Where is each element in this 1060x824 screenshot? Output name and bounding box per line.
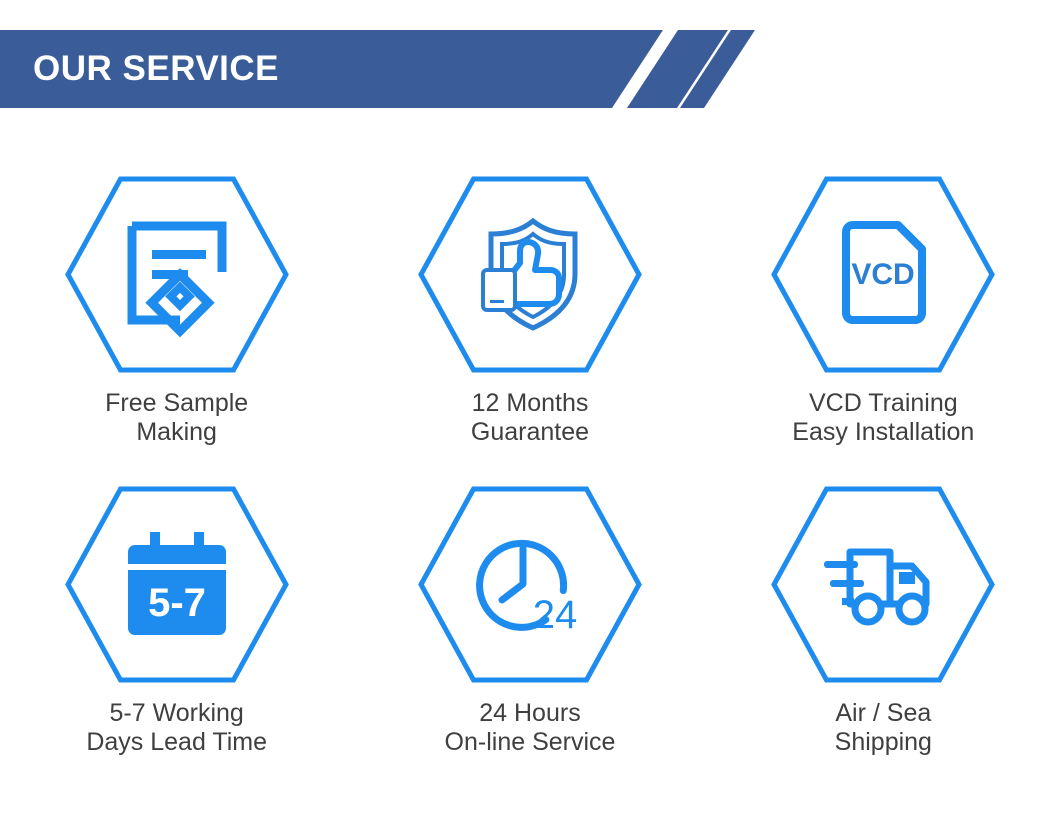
hexagon-frame-vcd: VCD bbox=[770, 175, 996, 374]
caption-line-2: Days Lead Time bbox=[86, 728, 267, 757]
hexagon-frame-online-service: 24 bbox=[417, 485, 643, 684]
hexagon-frame-lead-time: 5-7 bbox=[64, 485, 290, 684]
vcd-label: VCD bbox=[852, 258, 915, 291]
caption-line-1: Air / Sea bbox=[835, 699, 931, 727]
service-card-free-sample[interactable]: Free Sample Making bbox=[0, 175, 353, 485]
document-tag-icon bbox=[117, 215, 237, 335]
service-card-online-service[interactable]: 24 24 Hours On-line Service bbox=[353, 485, 706, 795]
service-grid: Free Sample Making bbox=[0, 175, 1060, 795]
service-card-lead-time[interactable]: 5-7 5-7 Working Days Lead Time bbox=[0, 485, 353, 795]
page-title: OUR SERVICE bbox=[33, 30, 279, 108]
delivery-truck-icon bbox=[823, 525, 943, 645]
service-caption-online-service: 24 Hours On-line Service bbox=[445, 699, 616, 757]
caption-line-1: 5-7 Working bbox=[110, 699, 244, 727]
caption-line-2: Making bbox=[105, 418, 248, 447]
caption-line-2: On-line Service bbox=[445, 728, 616, 757]
hexagon-frame-shipping bbox=[770, 485, 996, 684]
service-caption-lead-time: 5-7 Working Days Lead Time bbox=[86, 699, 267, 757]
clock-hours-label: 24 bbox=[533, 593, 578, 637]
service-caption-free-sample: Free Sample Making bbox=[105, 389, 248, 447]
header-banner: OUR SERVICE bbox=[0, 30, 760, 108]
hexagon-frame-guarantee bbox=[417, 175, 643, 374]
service-caption-shipping: Air / Sea Shipping bbox=[835, 699, 932, 757]
hexagon-frame-free-sample bbox=[64, 175, 290, 374]
caption-line-1: Free Sample bbox=[105, 389, 248, 417]
shield-thumbs-up-icon bbox=[470, 215, 590, 335]
calendar-icon: 5-7 bbox=[117, 525, 237, 645]
service-caption-vcd-training: VCD Training Easy Installation bbox=[792, 389, 974, 447]
service-card-shipping[interactable]: Air / Sea Shipping bbox=[707, 485, 1060, 795]
caption-line-1: 24 Hours bbox=[479, 699, 580, 727]
caption-line-2: Shipping bbox=[835, 728, 932, 757]
vcd-card-icon: VCD bbox=[823, 215, 943, 335]
service-card-vcd-training[interactable]: VCD VCD Training Easy Installation bbox=[707, 175, 1060, 485]
caption-line-1: VCD Training bbox=[809, 389, 958, 417]
caption-line-2: Easy Installation bbox=[792, 418, 974, 447]
service-card-guarantee[interactable]: 12 Months Guarantee bbox=[353, 175, 706, 485]
caption-line-1: 12 Months bbox=[472, 389, 589, 417]
clock-24h-icon: 24 bbox=[470, 525, 590, 645]
service-caption-guarantee: 12 Months Guarantee bbox=[471, 389, 589, 447]
calendar-days-label: 5-7 bbox=[148, 581, 206, 625]
caption-line-2: Guarantee bbox=[471, 418, 589, 447]
